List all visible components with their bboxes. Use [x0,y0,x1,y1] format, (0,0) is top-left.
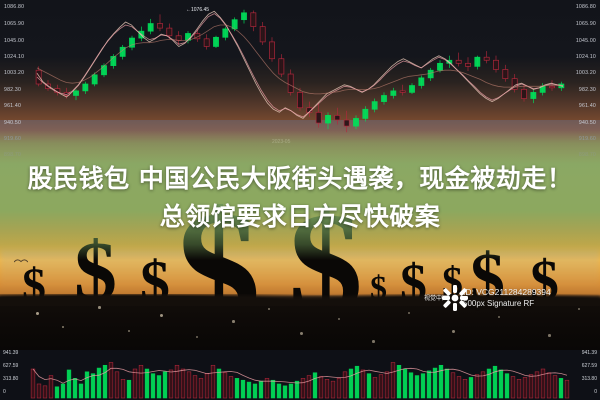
bokeh-spark [372,340,375,343]
price-axis-label-left: 1065.90 [4,21,24,27]
price-axis-label-right: 1065.90 [576,21,596,27]
volume-chart-svg [0,348,600,400]
price-axis-label-left: 1045.00 [4,38,24,44]
price-axis-label-right: 1045.00 [576,38,596,44]
headline-text: 股民钱包 中国公民大阪街头遇袭，现金被劫走！ 总领馆要求日方尽快破案 [0,160,600,236]
price-axis-label-right: 919.60 [579,136,596,142]
volume-axis-label-right: 0 [594,389,597,395]
price-axis-label-left: 898.70 [4,152,21,158]
volume-axis-label-right: 941.39 [582,350,597,356]
stock-photo-watermark: 视觉中国 ID: VCG211284289394 500px Signature… [424,278,594,318]
watermark-license: 500px Signature RF [463,298,551,309]
volume-axis-label-right: 627.59 [582,363,597,369]
headline-line-2: 总领馆要求日方尽快破案 [0,198,600,236]
price-axis-label-left: 919.60 [4,136,21,142]
bokeh-spark [160,314,163,317]
burst-asterisk-icon [442,285,468,311]
bokeh-spark [128,330,130,332]
bokeh-spark [338,318,340,320]
price-axis-label-left: 940.50 [4,120,21,126]
peak-price-annotation: ←1076.45 [186,7,209,13]
price-axis-label-left: 982.30 [4,87,21,93]
price-axis-label-right: 961.40 [579,103,596,109]
bokeh-spark [62,326,64,328]
bokeh-spark [300,332,303,335]
vcg-logo: 视觉中国 [424,283,458,313]
watermark-text: ID: VCG211284289394 500px Signature RF [463,287,551,309]
article-hero-image: $ $ $ $ $ $ $ $ $ $ 1086.80 1065.90 10 [0,0,600,400]
price-axis-label-right: 1003.20 [576,70,596,76]
price-axis-label-right: 898.70 [579,152,596,158]
chart-date-label: 2023-05 [272,139,290,145]
price-chart-panel [0,0,600,150]
bokeh-spark [268,308,270,310]
bokeh-spark [196,336,198,338]
price-axis-label-right: 982.30 [579,87,596,93]
price-axis-label-right: 1086.80 [576,4,596,10]
headline-line-1: 股民钱包 中国公民大阪街头遇袭，现金被劫走！ [28,164,573,193]
bokeh-spark [548,334,551,337]
watermark-id: ID: VCG211284289394 [463,287,551,298]
volume-axis-label-left: 627.59 [3,363,18,369]
volume-axis-label-right: 313.80 [582,376,597,382]
bokeh-spark [452,330,455,333]
price-axis-label-left: 1003.20 [4,70,24,76]
bokeh-spark [408,312,410,314]
volume-axis-label-left: 313.80 [3,376,18,382]
price-chart-svg [0,0,600,150]
volume-chart-panel [0,348,600,400]
bokeh-spark [232,320,235,323]
bokeh-spark [98,306,101,309]
price-axis-label-right: 1024.10 [576,54,596,60]
price-axis-label-right: 940.50 [579,120,596,126]
price-axis-label-left: 961.40 [4,103,21,109]
volume-axis-label-left: 0 [3,389,6,395]
bokeh-spark [36,312,39,315]
price-axis-label-left: 1024.10 [4,54,24,60]
price-axis-label-left: 1086.80 [4,4,24,10]
volume-axis-label-left: 941.39 [3,350,18,356]
